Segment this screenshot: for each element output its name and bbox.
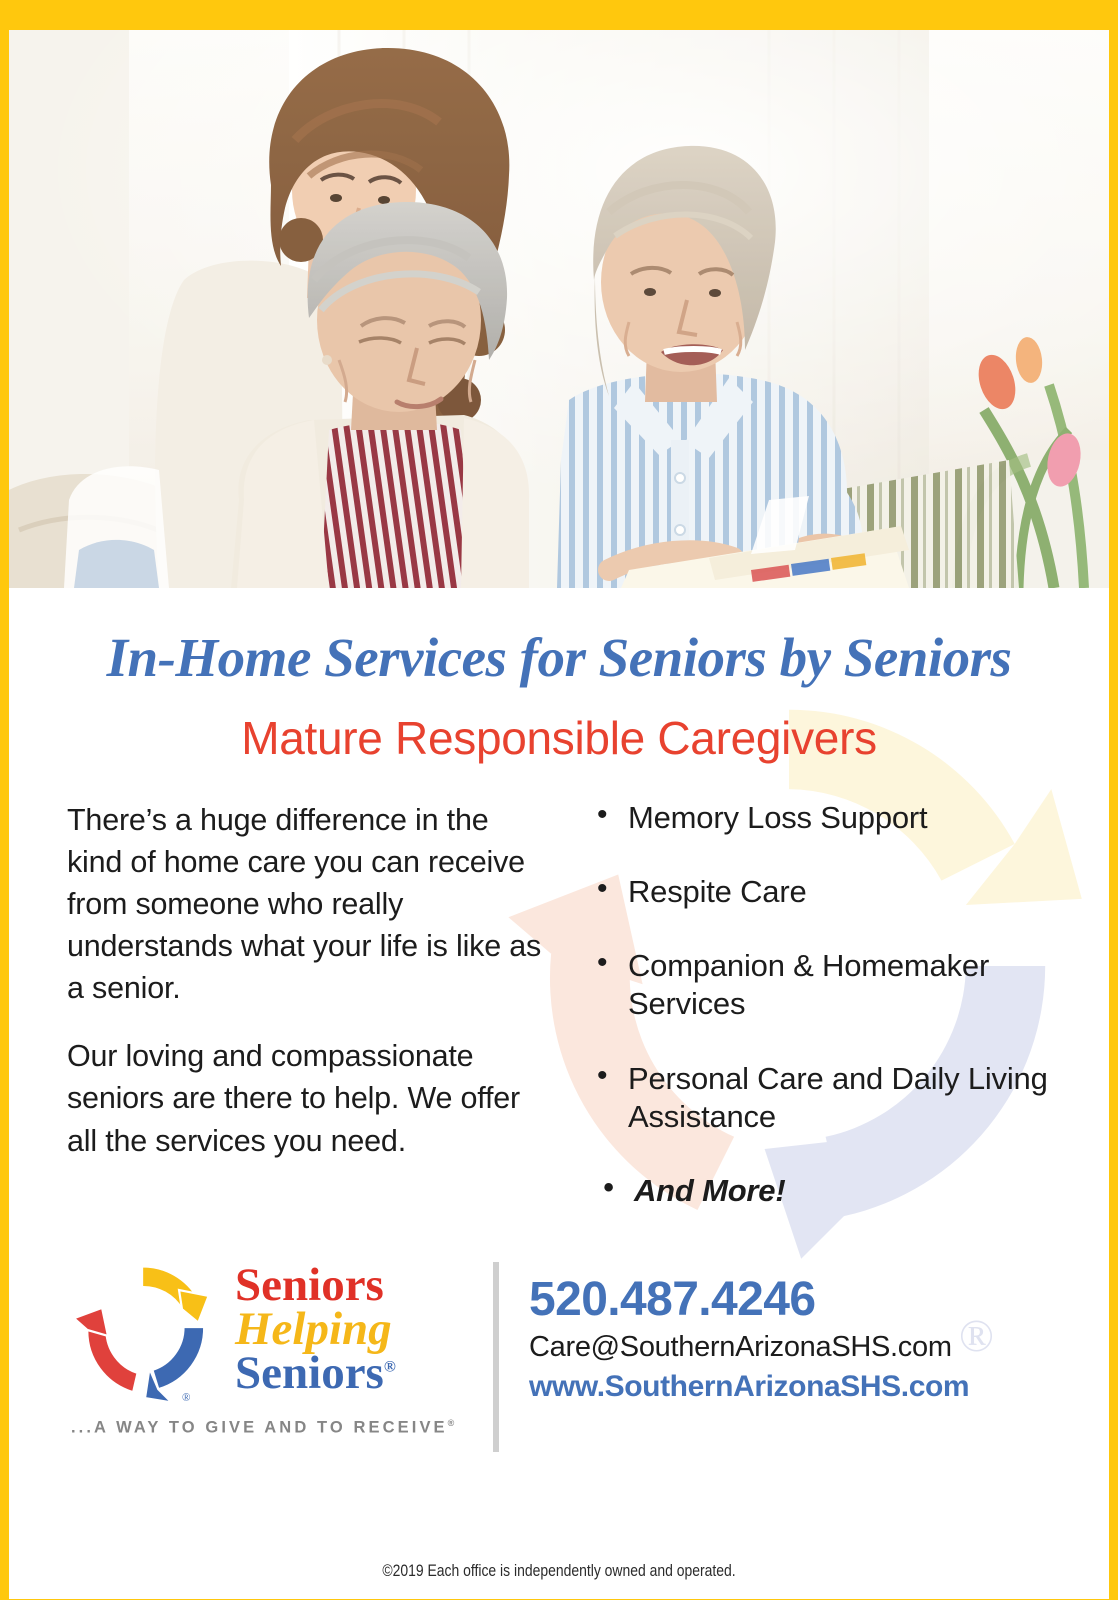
wordmark-line-1: Seniors [235, 1264, 396, 1308]
brand-logo: ® Seniors Helping Seniors® ...A WAY TO G… [71, 1254, 491, 1438]
services-list: Memory Loss Support Respite Care Compani… [594, 799, 1083, 1210]
circular-arrows-logo-icon: ® [71, 1254, 219, 1406]
footer: ® Seniors Helping Seniors® ...A WAY TO G… [9, 1254, 1109, 1452]
email-address[interactable]: Care@SouthernArizonaSHS.com [529, 1329, 969, 1365]
list-item: Companion & Homemaker Services [594, 947, 1083, 1023]
services-column: Memory Loss Support Respite Care Compani… [572, 799, 1083, 1210]
list-item: Personal Care and Daily Living Assistanc… [594, 1060, 1083, 1136]
list-item: Respite Care [594, 873, 1083, 911]
wordmark-line-3: Seniors® [235, 1352, 396, 1396]
description-paragraph-1: There’s a huge difference in the kind of… [67, 799, 548, 1009]
description-column: There’s a huge difference in the kind of… [67, 799, 572, 1210]
page-subtitle: Mature Responsible Caregivers [9, 711, 1109, 765]
body-columns: There’s a huge difference in the kind of… [9, 799, 1109, 1210]
list-item-and-more: And More! [594, 1172, 1083, 1210]
content-area: In-Home Services for Seniors by Seniors … [9, 626, 1109, 1599]
contact-block: 520.487.4246 Care@SouthernArizonaSHS.com… [499, 1254, 969, 1405]
brand-tagline: ...A WAY TO GIVE AND TO RECEIVE® [71, 1418, 491, 1438]
tagline-registered-mark: ® [448, 1418, 458, 1428]
wordmark-line-3-text: Seniors [235, 1347, 384, 1399]
website-url[interactable]: www.SouthernArizonaSHS.com [529, 1369, 969, 1405]
hero-photo [9, 30, 1109, 588]
brand-wordmark: Seniors Helping Seniors® [235, 1264, 396, 1395]
brand-tagline-text: ...A WAY TO GIVE AND TO RECEIVE [71, 1418, 448, 1436]
registered-mark: ® [384, 1358, 396, 1375]
flyer-frame: In-Home Services for Seniors by Seniors … [0, 0, 1118, 1600]
description-paragraph-2: Our loving and compassionate seniors are… [67, 1035, 548, 1161]
phone-number[interactable]: 520.487.4246 [529, 1276, 969, 1325]
svg-text:®: ® [182, 1392, 190, 1404]
list-item: Memory Loss Support [594, 799, 1083, 837]
page-title: In-Home Services for Seniors by Seniors [9, 626, 1109, 689]
hero-photo-illustration [9, 30, 1109, 588]
copyright-notice: ©2019 Each office is independently owned… [108, 1561, 1010, 1581]
wordmark-line-2: Helping [235, 1308, 396, 1352]
